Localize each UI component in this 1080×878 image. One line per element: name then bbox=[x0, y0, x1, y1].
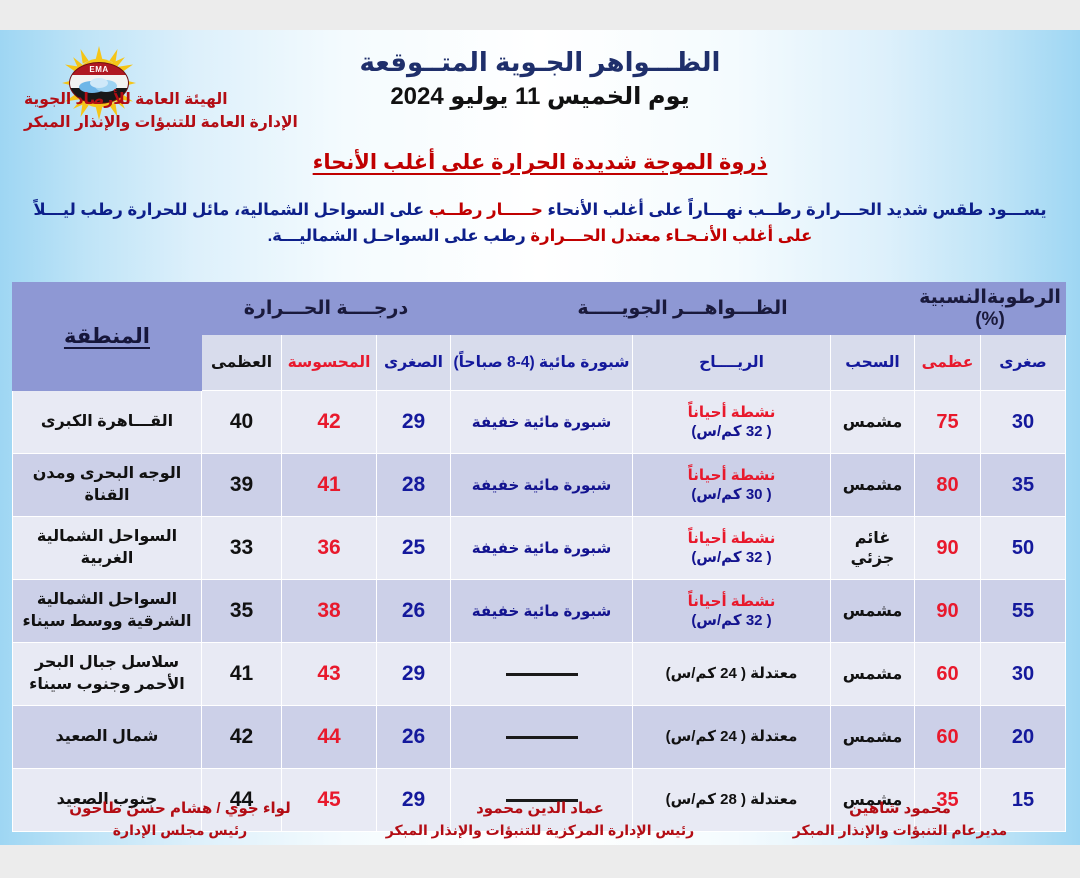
cell-temp-feel: 38 bbox=[282, 580, 377, 643]
subheader-t-max: العظمى bbox=[201, 335, 281, 391]
signatory-title: رئيس الإدارة المركزية للتنبؤات والإنذار … bbox=[360, 820, 720, 840]
cell-region: الوجه البحرى ومدن القناة bbox=[12, 454, 201, 517]
table-row: 5590مشمسنشطة أحياناً( 32 كم/س)شبورة مائي… bbox=[12, 580, 1065, 643]
cell-rh-max: 80 bbox=[915, 454, 981, 517]
summary-seg-5: رطب على السواحـل الشماليـــة. bbox=[268, 227, 526, 245]
table-row: 3580مشمسنشطة أحياناً( 30 كم/س)شبورة مائي… bbox=[12, 454, 1065, 517]
cell-temp-min: 28 bbox=[377, 454, 451, 517]
table-group-header-row: الرطوبةالنسبية (%) الظـــواهـــر الجويــ… bbox=[12, 283, 1065, 335]
cell-region: القـــاهرة الكبرى bbox=[12, 391, 201, 454]
cell-temp-feel: 41 bbox=[282, 454, 377, 517]
cell-fog: شبورة مائية خفيفة bbox=[451, 580, 633, 643]
cell-temp-max: 35 bbox=[201, 580, 281, 643]
cell-temp-max: 42 bbox=[201, 706, 281, 769]
page-title: الظـــواهر الجـوية المتــوقعة bbox=[0, 46, 1080, 79]
cell-rh-max: 60 bbox=[915, 706, 981, 769]
cell-rh-min: 50 bbox=[981, 517, 1066, 580]
cell-temp-min: 25 bbox=[377, 517, 451, 580]
cell-cloud: مشمس bbox=[831, 706, 915, 769]
signatory-title: مديرعام التنبؤات والإنذار المبكر bbox=[720, 820, 1080, 840]
cell-cloud: غائم جزئي bbox=[831, 517, 915, 580]
signatory-name: عماد الدين محمود bbox=[360, 798, 720, 820]
cell-region: سلاسل جبال البحر الأحمر وجنوب سيناء bbox=[12, 643, 201, 706]
forecast-table-container: الرطوبةالنسبية (%) الظـــواهـــر الجويــ… bbox=[13, 282, 1066, 832]
cell-fog: شبورة مائية خفيفة bbox=[451, 517, 633, 580]
signatory-title: رئيس مجلس الإدارة bbox=[0, 820, 360, 840]
cell-cloud: مشمس bbox=[831, 454, 915, 517]
forecast-table-body: 3075مشمسنشطة أحياناً( 32 كم/س)شبورة مائي… bbox=[12, 391, 1065, 832]
signature-block-2: عماد الدين محمودرئيس الإدارة المركزية لل… bbox=[360, 798, 720, 846]
cell-wind: معتدلة ( 24 كم/س) bbox=[633, 706, 831, 769]
group-header-phenomena: الظـــواهـــر الجويـــــة bbox=[451, 283, 915, 335]
signatory-name: محمود شاهين bbox=[720, 798, 1080, 820]
signature-block-1: محمود شاهينمديرعام التنبؤات والإنذار الم… bbox=[720, 798, 1080, 846]
cell-rh-max: 75 bbox=[915, 391, 981, 454]
weather-forecast-page: EMA الظـــواهر الجـوية المتــوقعة يوم ال… bbox=[0, 0, 1080, 878]
group-header-region: المنطقة bbox=[12, 283, 201, 391]
subheader-t-min: الصغرى bbox=[377, 335, 451, 391]
department-name: الإدارة العامة للتنبؤات والإنذار المبكر bbox=[24, 111, 298, 134]
cell-rh-min: 35 bbox=[981, 454, 1066, 517]
cell-wind: نشطة أحياناً( 30 كم/س) bbox=[633, 454, 831, 517]
subheader-rh-max: عظمى bbox=[915, 335, 981, 391]
table-row: 3075مشمسنشطة أحياناً( 32 كم/س)شبورة مائي… bbox=[12, 391, 1065, 454]
group-header-humidity: الرطوبةالنسبية (%) bbox=[915, 283, 1066, 335]
cell-temp-feel: 36 bbox=[282, 517, 377, 580]
bottom-margin-band bbox=[0, 845, 1080, 878]
forecast-table: الرطوبةالنسبية (%) الظـــواهـــر الجويــ… bbox=[12, 282, 1066, 832]
cell-rh-min: 20 bbox=[981, 706, 1066, 769]
cell-temp-feel: 44 bbox=[282, 706, 377, 769]
cell-temp-min: 26 bbox=[377, 580, 451, 643]
forecast-summary: يســـود طقس شديد الحـــرارة رطــب نهـــا… bbox=[22, 198, 1058, 249]
cell-temp-min: 29 bbox=[377, 643, 451, 706]
signature-block-3: لواء جوي / هشام حسن طاحونرئيس مجلس الإدا… bbox=[0, 798, 360, 846]
subheader-rh-min: صغرى bbox=[981, 335, 1066, 391]
cell-rh-min: 55 bbox=[981, 580, 1066, 643]
cell-rh-min: 30 bbox=[981, 391, 1066, 454]
cell-cloud: مشمس bbox=[831, 391, 915, 454]
cell-region: السواحل الشمالية الشرقية ووسط سيناء bbox=[12, 580, 201, 643]
table-row: 2060مشمسمعتدلة ( 24 كم/س)264442شمال الصع… bbox=[12, 706, 1065, 769]
cell-temp-min: 26 bbox=[377, 706, 451, 769]
cell-region: شمال الصعيد bbox=[12, 706, 201, 769]
subheader-t-feel: المحسوسة bbox=[282, 335, 377, 391]
organization-name: الهيئة العامة للأرصاد الجوية bbox=[24, 88, 298, 111]
cell-rh-max: 90 bbox=[915, 580, 981, 643]
cell-temp-max: 33 bbox=[201, 517, 281, 580]
cell-fog: شبورة مائية خفيفة bbox=[451, 454, 633, 517]
summary-seg-1: يســـود طقس شديد الحـــرارة رطــب نهـــا… bbox=[543, 201, 1047, 219]
summary-seg-3: على السواحل الشمالية، مائل للحرارة رطب ل… bbox=[33, 201, 428, 219]
table-row: 5090غائم جزئينشطة أحياناً( 32 كم/س)شبورة… bbox=[12, 517, 1065, 580]
cell-fog bbox=[451, 643, 633, 706]
page-header: EMA الظـــواهر الجـوية المتــوقعة يوم ال… bbox=[0, 30, 1080, 140]
cell-rh-min: 30 bbox=[981, 643, 1066, 706]
subheader-fog: شبورة مائية (4-8 صباحاً) bbox=[451, 335, 633, 391]
cell-wind: نشطة أحياناً( 32 كم/س) bbox=[633, 391, 831, 454]
no-data-dash bbox=[506, 736, 578, 739]
cell-wind: نشطة أحياناً( 32 كم/س) bbox=[633, 580, 831, 643]
cell-cloud: مشمس bbox=[831, 580, 915, 643]
cell-cloud: مشمس bbox=[831, 643, 915, 706]
cell-temp-max: 41 bbox=[201, 643, 281, 706]
cell-temp-min: 29 bbox=[377, 391, 451, 454]
signatory-name: لواء جوي / هشام حسن طاحون bbox=[0, 798, 360, 820]
top-margin-band bbox=[0, 0, 1080, 30]
no-data-dash bbox=[506, 673, 578, 676]
alert-headline: ذروة الموجة شديدة الحرارة على أغلب الأنح… bbox=[0, 150, 1080, 175]
group-header-temperature: درجــــة الحـــرارة bbox=[201, 283, 450, 335]
cell-temp-feel: 42 bbox=[282, 391, 377, 454]
subheader-wind: الريــــاح bbox=[633, 335, 831, 391]
cell-temp-feel: 43 bbox=[282, 643, 377, 706]
cell-wind: معتدلة ( 24 كم/س) bbox=[633, 643, 831, 706]
table-row: 3060مشمسمعتدلة ( 24 كم/س)294341سلاسل جبا… bbox=[12, 643, 1065, 706]
summary-seg-2: حـــــار رطــب bbox=[429, 201, 543, 219]
cell-rh-max: 90 bbox=[915, 517, 981, 580]
cell-fog bbox=[451, 706, 633, 769]
cell-temp-max: 40 bbox=[201, 391, 281, 454]
signature-footer: محمود شاهينمديرعام التنبؤات والإنذار الم… bbox=[0, 798, 1080, 846]
organization-block: الهيئة العامة للأرصاد الجوية الإدارة الع… bbox=[24, 88, 298, 135]
cell-wind: نشطة أحياناً( 32 كم/س) bbox=[633, 517, 831, 580]
summary-seg-4: على أغلب الأنـحـاء معتدل الحـــرارة bbox=[526, 227, 813, 245]
cell-temp-max: 39 bbox=[201, 454, 281, 517]
subheader-cloud: السحب bbox=[831, 335, 915, 391]
cell-region: السواحل الشمالية الغربية bbox=[12, 517, 201, 580]
cell-fog: شبورة مائية خفيفة bbox=[451, 391, 633, 454]
cell-rh-max: 60 bbox=[915, 643, 981, 706]
